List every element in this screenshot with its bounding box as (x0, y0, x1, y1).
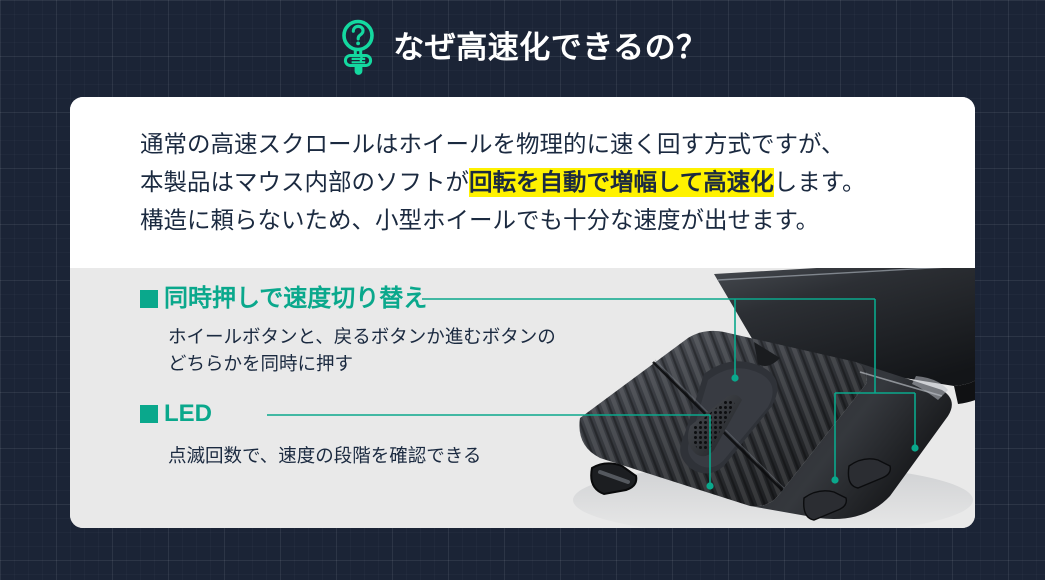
intro-line-1: 通常の高速スクロールはホイールを物理的に速く回す方式ですが、 (140, 125, 865, 163)
intro-line-2: 本製品はマウス内部のソフトが回転を自動で増幅して高速化します。 (140, 163, 865, 201)
header: なぜ高速化できるの？ (0, 0, 1045, 97)
callout-1-body: ホイールボタンと、戻るボタンか進むボタンの どちらかを同時に押す (168, 323, 556, 377)
callout-1-title: 同時押しで速度切り替え (164, 287, 427, 311)
intro-section: 通常の高速スクロールはホイールを物理的に速く回す方式ですが、 本製品はマウス内部… (70, 97, 975, 268)
callout-1-body-line-2: どちらかを同時に押す (168, 350, 556, 377)
callout-simultaneous-press: 同時押しで速度切り替え ホイールボタンと、戻るボタンか進むボタンの どちらかを同… (140, 287, 556, 377)
content-card: 通常の高速スクロールはホイールを物理的に速く回す方式ですが、 本製品はマウス内部… (70, 97, 975, 528)
callout-2-title: LED (164, 402, 212, 426)
page-root: なぜ高速化できるの？ 通常の高速スクロールはホイールを物理的に速く回す方式ですが… (0, 0, 1045, 580)
question-lightbulb-icon (337, 18, 379, 80)
callout-2-heading: LED (140, 402, 481, 426)
folding-arc-mouse-photo (518, 268, 975, 528)
callout-2-body-line-1: 点滅回数で、速度の段階を確認できる (168, 442, 481, 469)
intro-highlight: 回転を自動で増幅して高速化 (469, 168, 774, 197)
callout-1-body-line-1: ホイールボタンと、戻るボタンか進むボタンの (168, 323, 556, 350)
intro-line-2-prefix: 本製品はマウス内部のソフトが (140, 169, 469, 195)
feature-panel: 同時押しで速度切り替え ホイールボタンと、戻るボタンか進むボタンの どちらかを同… (70, 268, 975, 528)
callout-1-heading: 同時押しで速度切り替え (140, 287, 556, 311)
page-title: なぜ高速化できるの？ (393, 32, 707, 65)
square-bullet-icon (140, 290, 158, 308)
intro-line-2-suffix: します。 (774, 169, 866, 195)
intro-paragraph: 通常の高速スクロールはホイールを物理的に速く回す方式ですが、 本製品はマウス内部… (140, 125, 865, 239)
callout-2-body: 点滅回数で、速度の段階を確認できる (168, 442, 481, 469)
intro-line-3: 構造に頼らないため、小型ホイールでも十分な速度が出せます。 (140, 201, 865, 239)
callout-led: LED 点滅回数で、速度の段階を確認できる (140, 402, 481, 469)
square-bullet-icon (140, 405, 158, 423)
